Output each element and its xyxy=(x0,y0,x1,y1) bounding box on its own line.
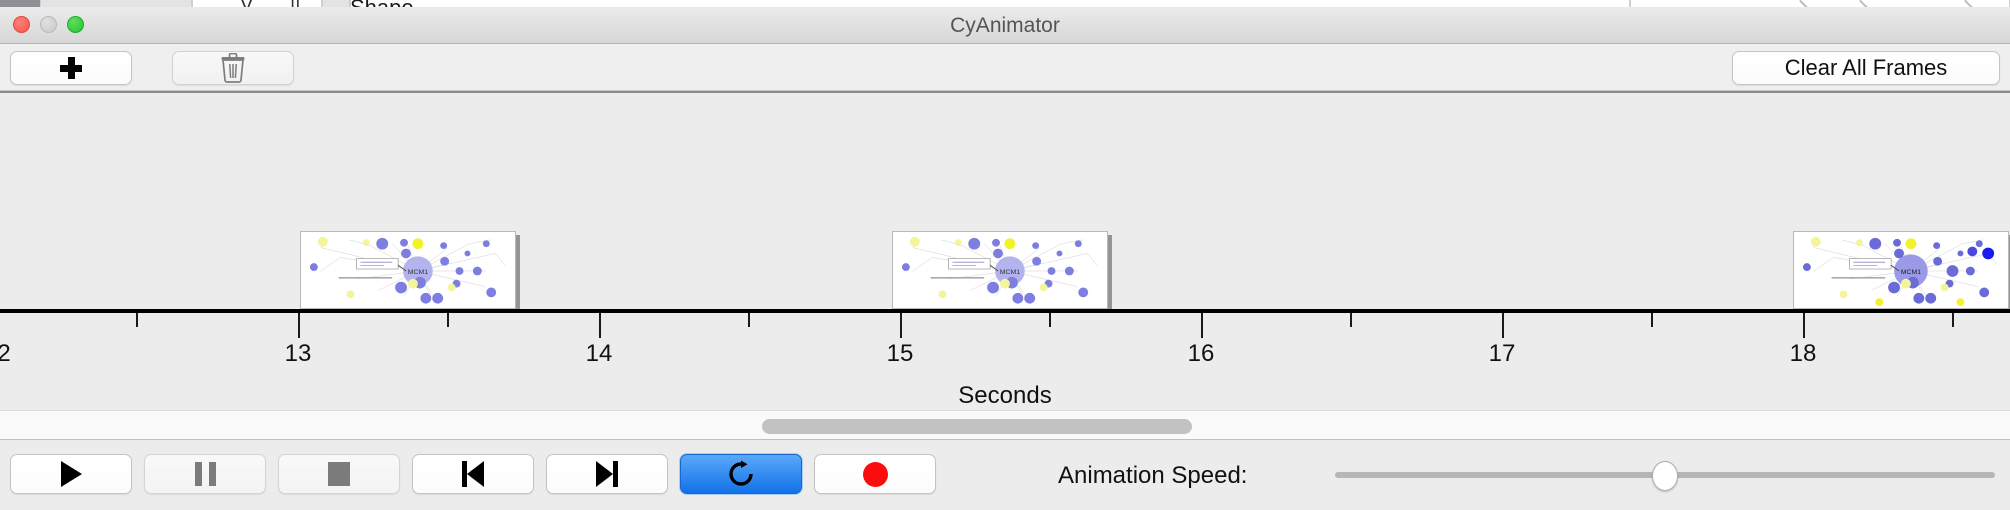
pause-icon xyxy=(195,462,216,486)
playback-bar: Animation Speed: xyxy=(0,441,2010,510)
ruler-label: 18 xyxy=(1790,340,1817,368)
loop-button[interactable] xyxy=(680,454,802,494)
ruler-label: 2 xyxy=(0,340,11,368)
timeline-scrollbar[interactable] xyxy=(0,410,2010,440)
skip-next-button[interactable] xyxy=(546,454,668,494)
plus-icon xyxy=(60,57,82,79)
ruler-label: 17 xyxy=(1489,340,1516,368)
ruler-tick-major xyxy=(1201,313,1203,338)
ruler-tick-minor xyxy=(1350,313,1352,327)
frame-thumbnail[interactable]: MCM1 xyxy=(1793,231,2009,309)
ruler-label: 16 xyxy=(1188,340,1215,368)
toolbar: Clear All Frames xyxy=(0,44,2010,91)
timeline-ruler[interactable]: 2 13 14 15 16 17 18 Seconds xyxy=(0,309,2010,410)
record-icon xyxy=(863,462,888,487)
skip-previous-button[interactable] xyxy=(412,454,534,494)
svg-text:MCM1: MCM1 xyxy=(1000,269,1021,276)
ruler-tick-minor xyxy=(447,313,449,327)
scrollbar-thumb[interactable] xyxy=(762,419,1192,434)
delete-frame-button[interactable] xyxy=(172,51,294,85)
timeline-panel: MCM1 xyxy=(0,91,2010,410)
ruler-label: 14 xyxy=(586,340,613,368)
title-bar: CyAnimator xyxy=(0,7,2010,44)
clear-all-frames-button[interactable]: Clear All Frames xyxy=(1732,51,2000,85)
network-graph-preview: MCM1 xyxy=(893,232,1107,308)
trash-icon xyxy=(220,53,246,83)
loop-icon xyxy=(726,459,756,489)
ruler-tick-major xyxy=(599,313,601,338)
svg-text:MCM1: MCM1 xyxy=(408,269,429,276)
pause-button[interactable] xyxy=(144,454,266,494)
animation-speed-slider[interactable] xyxy=(1335,441,1995,510)
ruler-tick-major xyxy=(1803,313,1805,338)
ruler-tick-minor xyxy=(1651,313,1653,327)
frame-thumbnail[interactable]: MCM1 xyxy=(300,231,516,309)
network-graph-preview: MCM1 xyxy=(301,232,515,308)
add-frame-button[interactable] xyxy=(10,51,132,85)
skip-next-icon xyxy=(596,461,618,487)
slider-thumb[interactable] xyxy=(1652,461,1678,491)
ruler-tick-minor xyxy=(748,313,750,327)
stop-icon xyxy=(328,462,350,486)
cyanimator-window: V || Shape CyAnimator C xyxy=(0,0,2010,510)
play-icon xyxy=(61,461,82,487)
ruler-tick-major xyxy=(1502,313,1504,338)
ruler-tick-major xyxy=(298,313,300,338)
ruler-tick-minor xyxy=(1952,313,1954,327)
ruler-label: 15 xyxy=(887,340,914,368)
stop-button[interactable] xyxy=(278,454,400,494)
ruler-tick-minor xyxy=(1049,313,1051,327)
skip-previous-icon xyxy=(462,461,484,487)
ruler-baseline xyxy=(0,309,2010,313)
window-title: CyAnimator xyxy=(0,7,2010,44)
network-graph-preview: MCM1 xyxy=(1794,232,2008,308)
ruler-tick-major xyxy=(900,313,902,338)
frame-thumbnail[interactable]: MCM1 xyxy=(892,231,1108,309)
frames-area: MCM1 xyxy=(0,93,2010,309)
play-button[interactable] xyxy=(10,454,132,494)
animation-speed-label: Animation Speed: xyxy=(1058,441,1247,510)
svg-text:MCM1: MCM1 xyxy=(1901,269,1922,276)
record-button[interactable] xyxy=(814,454,936,494)
ruler-label: 13 xyxy=(285,340,312,368)
ruler-tick-minor xyxy=(136,313,138,327)
axis-title: Seconds xyxy=(0,382,2010,410)
